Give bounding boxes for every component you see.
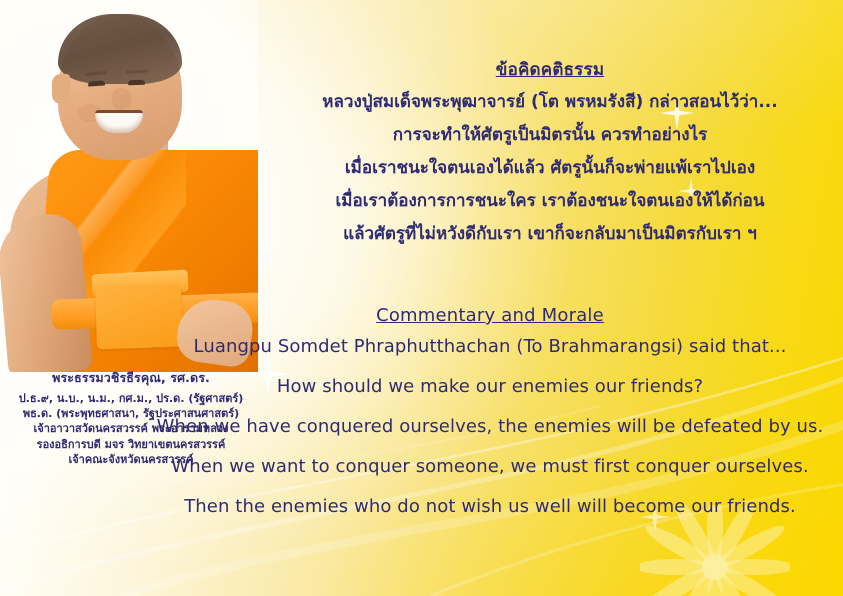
english-line-5: Then the enemies who do not wish us well… (140, 498, 840, 517)
thai-line-2: การจะทำให้ศัตรูเป็นมิตรนั้น ควรทำอย่างไร (270, 127, 830, 144)
english-heading: Commentary and Morale (140, 305, 840, 326)
caption-line-4: รองอธิการบดี มจร วิทยาเขตนครสวรรค์ (0, 437, 262, 452)
thai-heading: ข้อคิดคติธรรม (270, 56, 830, 83)
poster-canvas: ข้อคิดคติธรรม หลวงปู่สมเด็จพระพุฒาจารย์ … (0, 0, 843, 596)
caption-line-5: เจ้าคณะจังหวัดนครสวรรค์ (0, 452, 262, 467)
caption-line-3: เจ้าอาวาสวัดนครสวรรค์ พระอารามหลวง (0, 421, 262, 436)
thai-line-4: เมื่อเราต้องการการชนะใคร เราต้องชนะใจตนเ… (270, 193, 830, 210)
thai-line-3: เมื่อเราชนะใจตนเองได้แล้ว ศัตรูนั้นก็จะพ… (270, 160, 830, 177)
english-line-1: Luangpu Somdet Phraphutthachan (To Brahm… (140, 338, 840, 357)
thai-line-1: หลวงปู่สมเด็จพระพุฒาจารย์ (โต พรหมรังสี)… (270, 94, 830, 111)
ear-shape (52, 74, 70, 104)
portrait-caption: พระธรรมวชิรธีรคุณ, รศ.ดร. ป.ธ.๙, น.บ., น… (0, 368, 262, 467)
thai-quote-block: ข้อคิดคติธรรม หลวงปู่สมเด็จพระพุฒาจารย์ … (270, 56, 830, 259)
caption-line-2: พธ.ด. (พระพุทธศาสนา, รัฐประศาสนศาสตร์) (0, 406, 262, 421)
thai-line-5: แล้วศัตรูที่ไม่หวังดีกับเรา เขาก็จะกลับม… (270, 226, 830, 243)
caption-line-1: ป.ธ.๙, น.บ., น.ม., กศ.ม., ปร.ด. (รัฐศาสต… (0, 391, 262, 406)
eye-right (128, 80, 145, 86)
caption-name: พระธรรมวชิรธีรคุณ, รศ.ดร. (0, 368, 262, 388)
arm-shape (0, 212, 93, 372)
